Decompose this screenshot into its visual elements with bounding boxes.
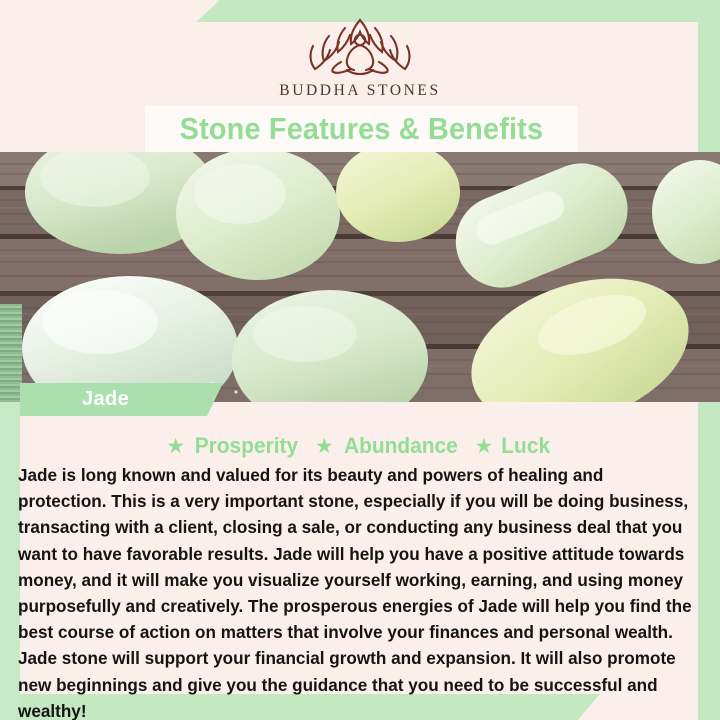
left-accent-bar (0, 400, 20, 720)
title-banner: Stone Features & Benefits (145, 106, 578, 152)
stone-name: Jade (82, 388, 129, 411)
star-icon: ★ (315, 436, 334, 457)
benefit-label: Luck (502, 433, 551, 459)
benefit-item: ★ Luck (475, 433, 552, 459)
lotus-meditation-figure-icon (285, 14, 435, 80)
stone-photo (0, 152, 720, 402)
brand-name: BUDDHA STONES (279, 82, 440, 100)
stone-description: Jade is long known and valued for its be… (18, 462, 696, 720)
photo-left-accent (0, 304, 22, 402)
brand-logo: BUDDHA STONES (0, 14, 720, 106)
star-icon: ★ (475, 436, 494, 457)
benefit-label: Prosperity (195, 433, 298, 459)
stone-photo-illustration (0, 152, 720, 402)
stone-name-badge: Jade (20, 383, 223, 416)
star-icon: ★ (166, 436, 185, 457)
benefits-row: ★ Prosperity ★ Abundance ★ Luck (20, 430, 698, 462)
benefit-item: ★ Abundance (315, 433, 461, 459)
stone-info-card: BUDDHA STONES Stone Features & Benefits (0, 0, 720, 720)
benefit-item: ★ Prosperity (166, 433, 301, 459)
page-title: Stone Features & Benefits (180, 111, 544, 147)
benefit-label: Abundance (344, 433, 458, 459)
